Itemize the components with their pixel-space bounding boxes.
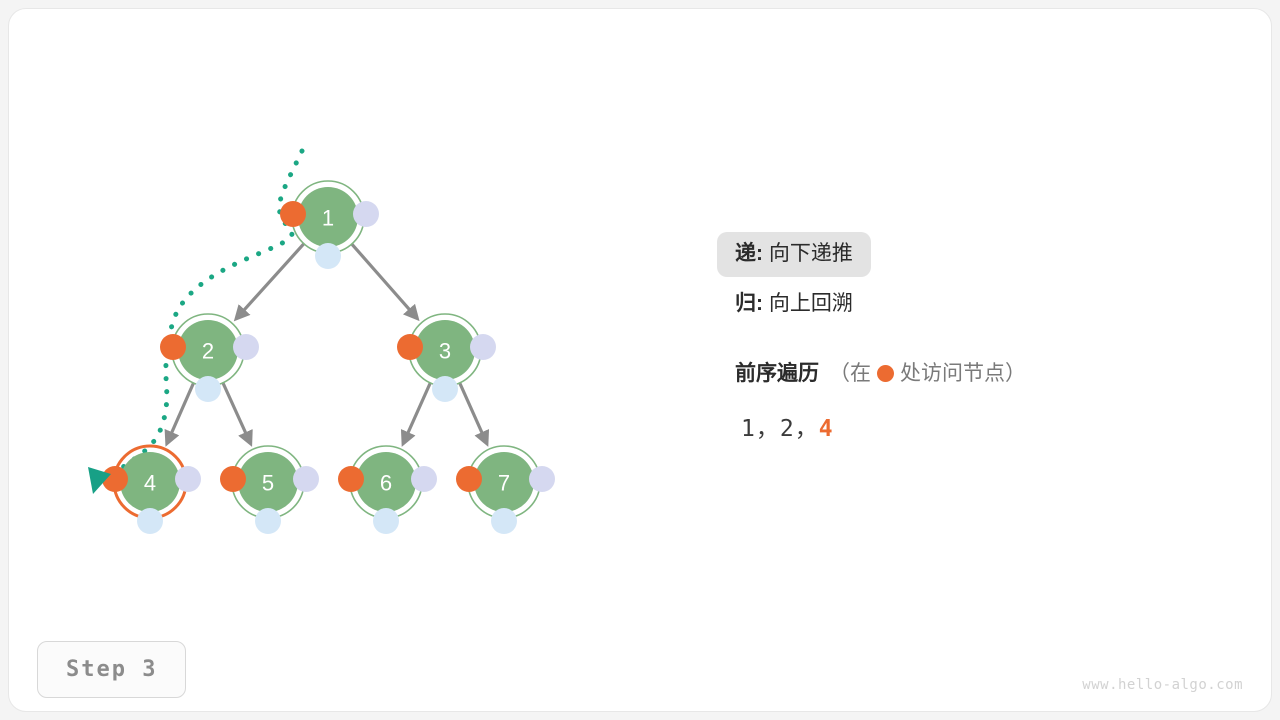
legend-recurse-pill: 递: 向下递推 (717, 232, 871, 277)
legend-return-value: 向上回溯 (769, 292, 853, 315)
tree-node-5[interactable]: 5 (220, 446, 319, 534)
node-visit-dot-7 (456, 466, 482, 492)
tree-edge-n1-n3 (352, 244, 417, 318)
tree-edge-n3-n7 (460, 383, 487, 443)
tree-edge-n3-n6 (404, 383, 431, 443)
node-bottom-dot-2 (195, 376, 221, 402)
recursion-trail-path (110, 151, 302, 479)
legend-row-return: 归: 向上回溯 (727, 277, 1227, 327)
node-bottom-dot-4 (137, 508, 163, 534)
tree-edge-n2-n5 (223, 383, 250, 443)
node-visit-dot-5 (220, 466, 246, 492)
legend-recurse-value: 向下递推 (769, 242, 853, 265)
legend-row-recurse: 递: 向下递推 (727, 232, 1227, 277)
node-right-dot-6 (411, 466, 437, 492)
tree-node-2[interactable]: 2 (160, 314, 259, 402)
node-visit-dot-3 (397, 334, 423, 360)
node-visit-dot-6 (338, 466, 364, 492)
recursion-trail (110, 151, 302, 479)
node-visit-dot-2 (160, 334, 186, 360)
legend-return-pill: 归: 向上回溯 (717, 282, 871, 327)
node-bottom-dot-7 (491, 508, 517, 534)
watermark: www.hello-algo.com (1082, 677, 1243, 693)
node-bottom-dot-6 (373, 508, 399, 534)
traversal-note-prefix: （在 (829, 362, 871, 385)
tree-edge-n1-n2 (237, 244, 304, 318)
figure-card: 1234567 递: 向下递推 归: 向上回溯 前序遍历 （在处访问节点） (8, 8, 1272, 712)
sequence-visited: 1，2， (741, 416, 819, 442)
node-bottom-dot-1 (315, 243, 341, 269)
tree-node-3[interactable]: 3 (397, 314, 496, 402)
tree-node-4[interactable]: 4 (102, 446, 201, 534)
traversal-name-label: 前序遍历 (735, 357, 819, 387)
tree-edge-n2-n4 (167, 383, 193, 443)
sequence-current: 4 (819, 416, 834, 442)
node-right-dot-7 (529, 466, 555, 492)
node-right-dot-1 (353, 201, 379, 227)
traversal-note-suffix: 处访问节点） (900, 362, 1026, 385)
node-right-dot-2 (233, 334, 259, 360)
tree-node-7[interactable]: 7 (456, 446, 555, 534)
orange-dot-icon (877, 365, 894, 382)
node-visit-dot-1 (280, 201, 306, 227)
legend-recurse-key: 递: (735, 242, 763, 265)
tree-node-6[interactable]: 6 (338, 446, 437, 534)
node-right-dot-5 (293, 466, 319, 492)
legend-return-key: 归: (735, 292, 763, 315)
node-right-dot-4 (175, 466, 201, 492)
node-label-6: 6 (380, 471, 392, 496)
info-panel: 递: 向下递推 归: 向上回溯 前序遍历 （在处访问节点） 1，2，4 (727, 232, 1227, 443)
node-label-2: 2 (202, 339, 214, 364)
node-label-3: 3 (439, 339, 451, 364)
step-badge: Step 3 (37, 641, 186, 698)
node-right-dot-3 (470, 334, 496, 360)
node-bottom-dot-5 (255, 508, 281, 534)
node-label-7: 7 (498, 471, 510, 496)
node-label-4: 4 (144, 471, 156, 496)
traversal-sequence: 1，2，4 (741, 409, 1227, 443)
node-bottom-dot-3 (432, 376, 458, 402)
node-label-1: 1 (322, 206, 334, 231)
node-label-5: 5 (262, 471, 274, 496)
traversal-order-title: 前序遍历 （在处访问节点） (735, 357, 1227, 387)
traversal-note: （在处访问节点） (829, 357, 1026, 387)
screenshot-root: 1234567 递: 向下递推 归: 向上回溯 前序遍历 （在处访问节点） (0, 0, 1280, 720)
tree-nodes: 1234567 (102, 181, 555, 534)
